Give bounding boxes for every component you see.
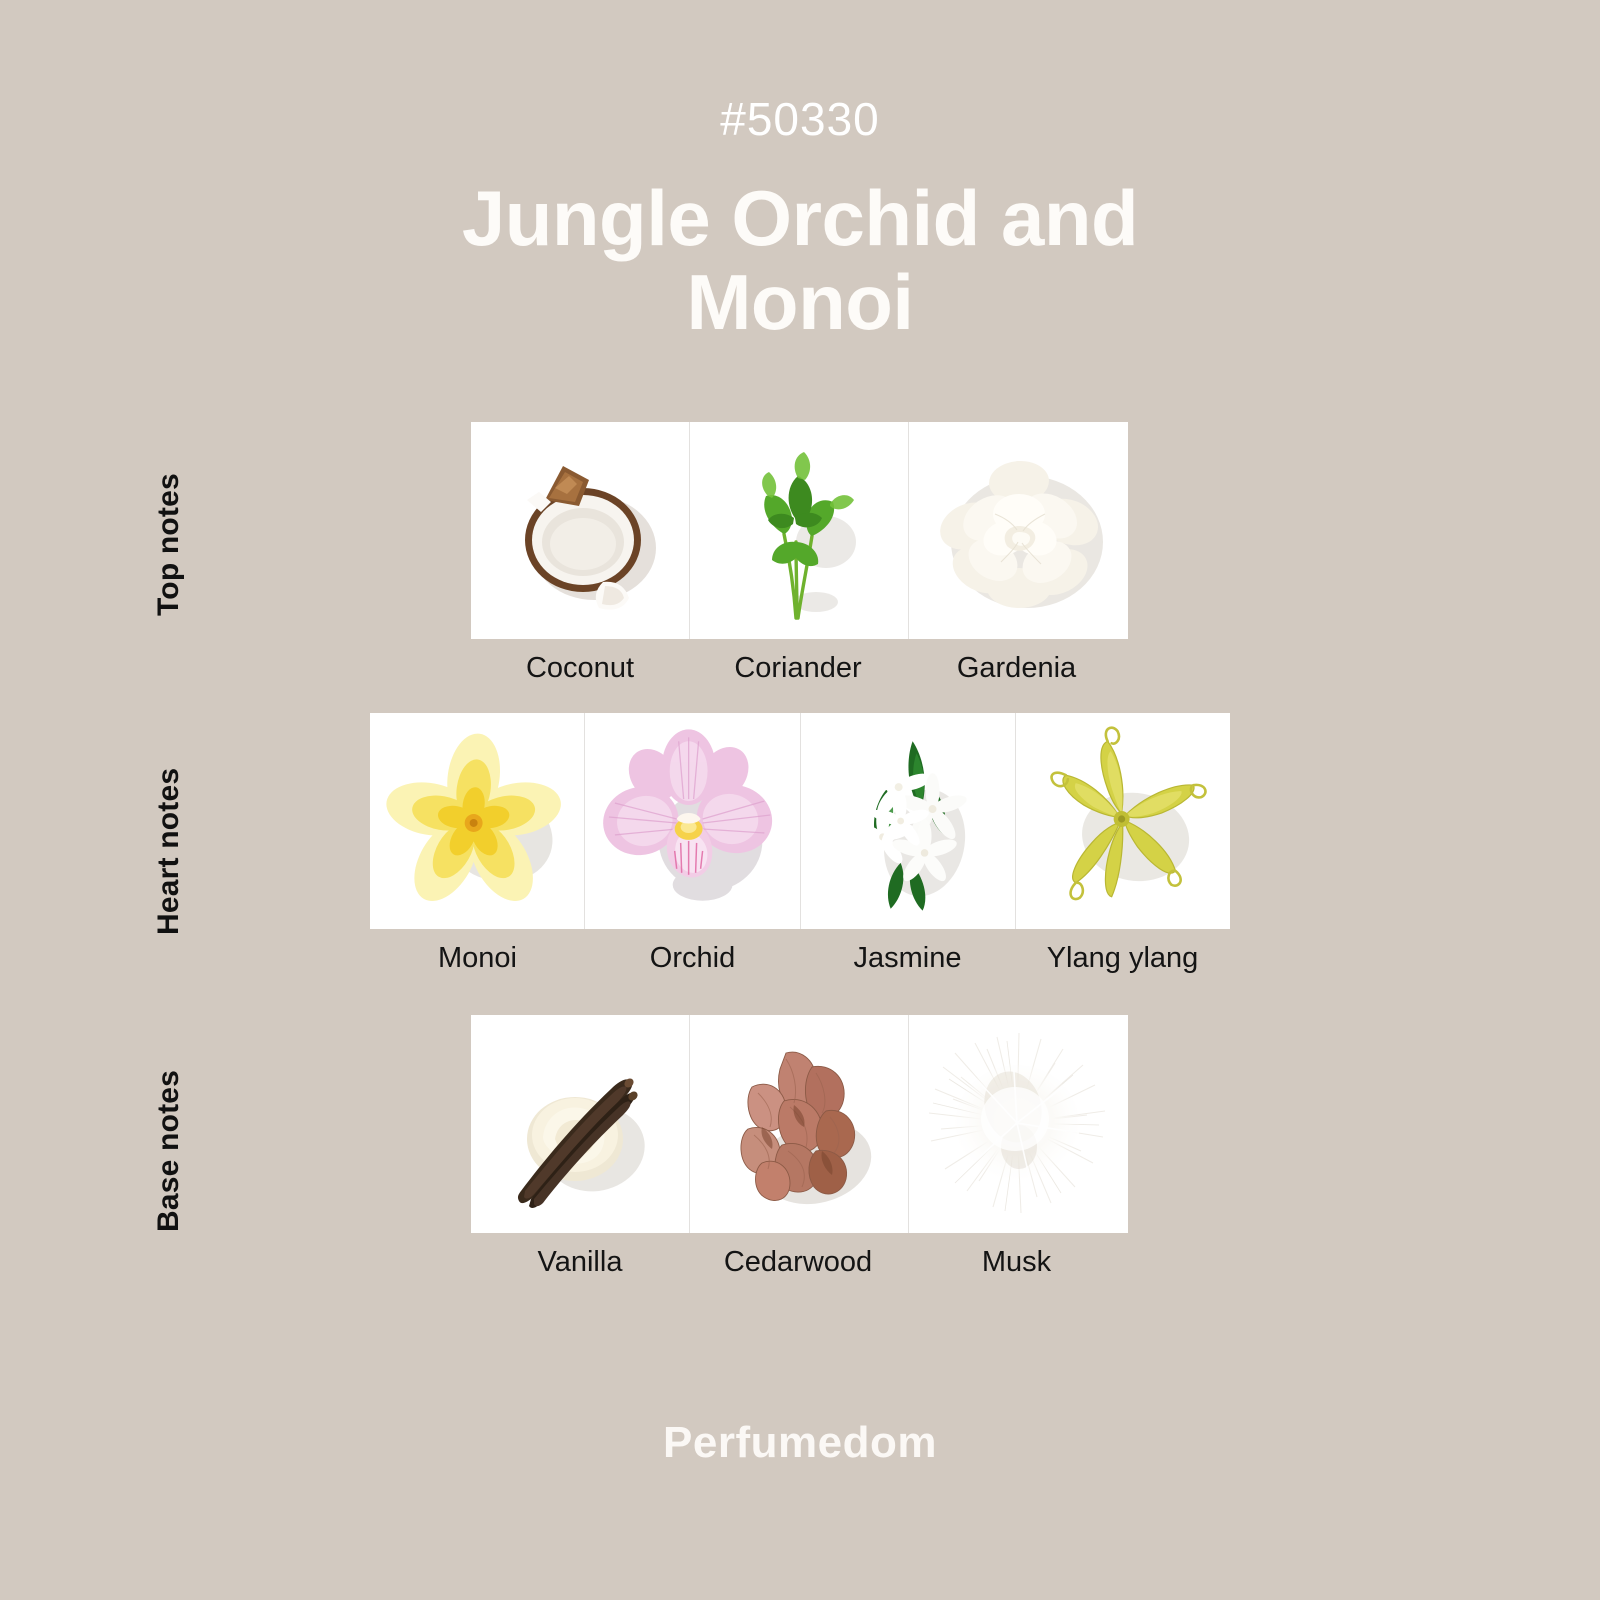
side-label-top-notes: Top notes [152,473,186,616]
coconut-art [471,422,689,639]
tile-row-heart-notes [370,713,1230,929]
note-label-cedarwood: Cedarwood [689,1234,907,1277]
note-tile-cedarwood[interactable] [689,1015,908,1233]
note-label-coconut: Coconut [471,640,689,683]
footer: Perfumedom [0,1418,1600,1468]
note-label-monoi: Monoi [370,930,585,973]
label-row-top-notes: Coconut Coriander Gardenia [471,640,1128,683]
fragrance-id: #50330 [0,96,1600,142]
note-label-musk: Musk [907,1234,1126,1277]
note-tile-jasmine[interactable] [800,713,1015,929]
side-label-heart-notes: Heart notes [152,768,186,935]
vanilla-art [471,1015,689,1233]
note-tile-vanilla[interactable] [471,1015,689,1233]
note-tile-coconut[interactable] [471,422,689,639]
side-label-base-notes: Base notes [152,1070,186,1232]
cedarwood-art [690,1015,908,1233]
musk-art [909,1015,1128,1233]
tile-row-base-notes [471,1015,1128,1233]
page-title: Jungle Orchid and Monoi [350,176,1250,344]
note-tile-musk[interactable] [908,1015,1128,1233]
note-label-ylang-ylang: Ylang ylang [1015,930,1230,973]
note-label-vanilla: Vanilla [471,1234,689,1277]
note-label-gardenia: Gardenia [907,640,1126,683]
header: #50330 Jungle Orchid and Monoi [0,96,1600,344]
label-row-heart-notes: Monoi Orchid Jasmine Ylang ylang [370,930,1230,973]
note-label-coriander: Coriander [689,640,907,683]
ylang-ylang-art [1016,713,1230,929]
gardenia-art [909,422,1128,639]
note-tile-monoi[interactable] [370,713,584,929]
note-tile-gardenia[interactable] [908,422,1128,639]
coriander-art [690,422,908,639]
note-label-orchid: Orchid [585,930,800,973]
note-tile-ylang-ylang[interactable] [1015,713,1230,929]
note-tile-coriander[interactable] [689,422,908,639]
monoi-art [370,713,584,929]
tile-row-top-notes [471,422,1128,639]
label-row-base-notes: Vanilla Cedarwood Musk [471,1234,1128,1277]
brand-name: Perfumedom [663,1418,937,1467]
note-tile-orchid[interactable] [584,713,799,929]
jasmine-art [801,713,1015,929]
infographic-canvas: #50330 Jungle Orchid and Monoi Top notes [0,0,1600,1600]
orchid-art [585,713,799,929]
note-label-jasmine: Jasmine [800,930,1015,973]
